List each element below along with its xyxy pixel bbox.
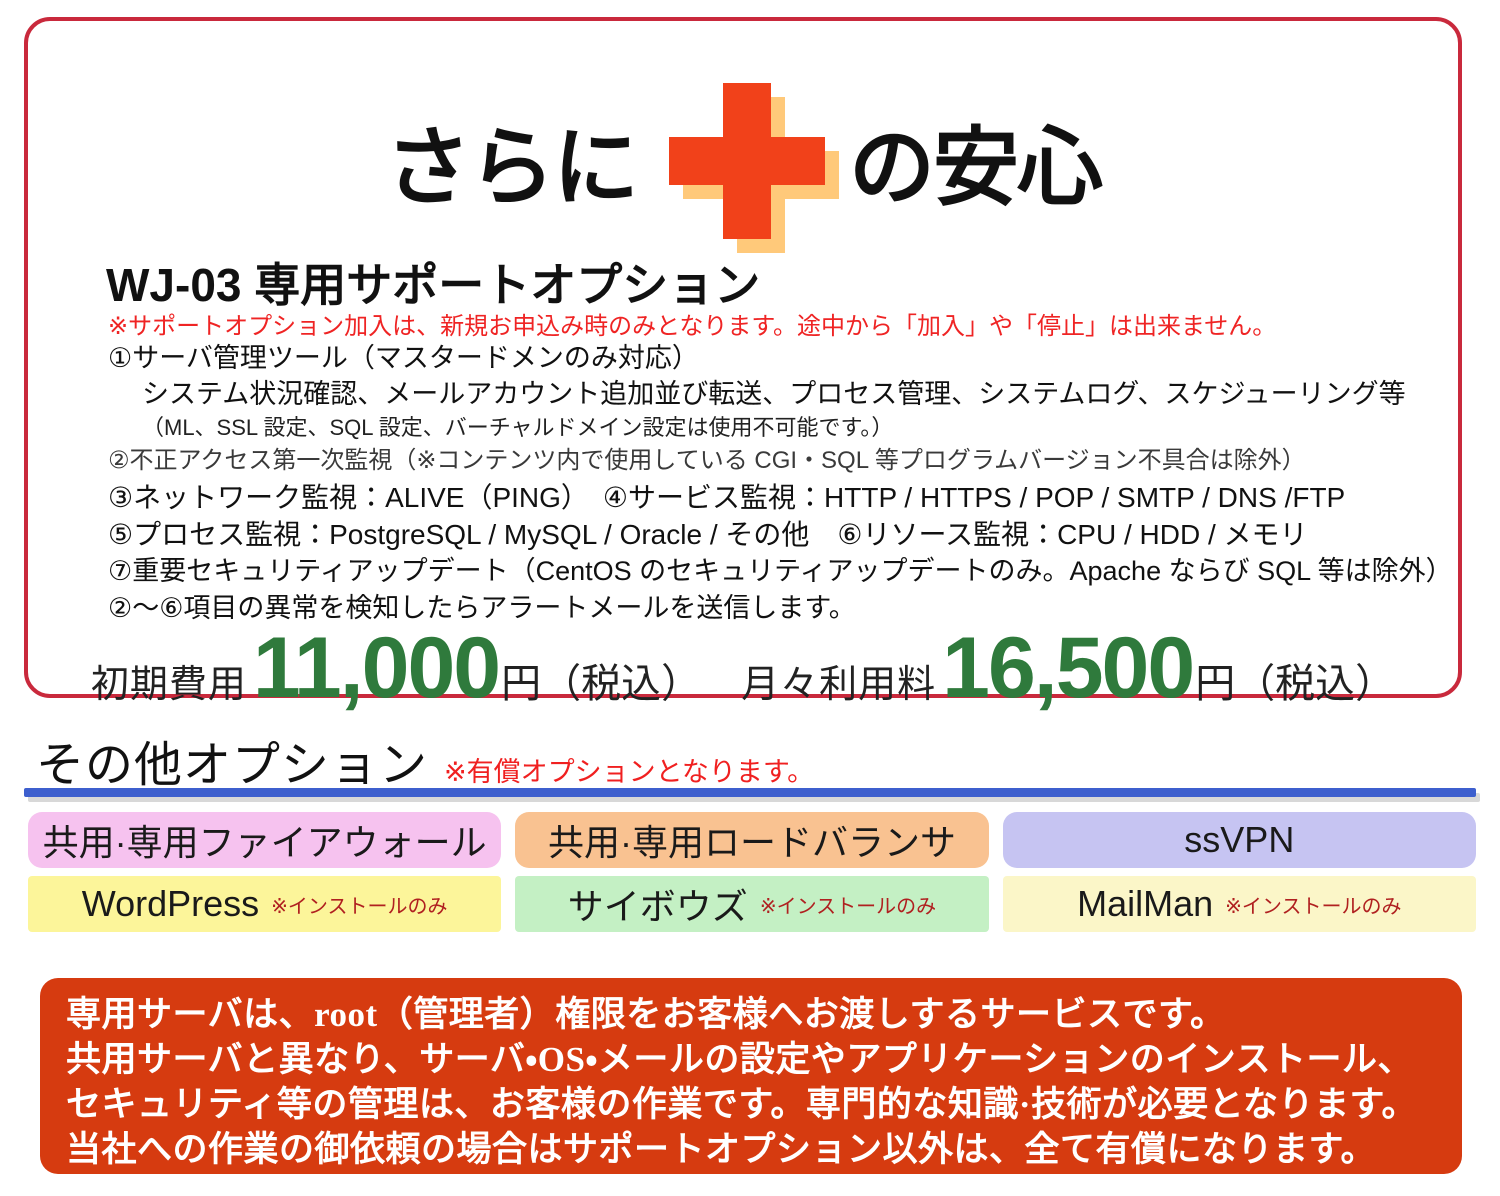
- feature-item-3-4: ③ネットワーク監視：ALIVE（PING） ④サービス監視：HTTP / HTT…: [108, 479, 1448, 516]
- monthly-fee-value: 16,500: [942, 620, 1193, 716]
- feature-item-1: ①サーバ管理ツール（マスタードメンのみ対応）: [108, 341, 1448, 376]
- option-tag-install-note: ※インストールのみ: [760, 890, 936, 919]
- option-tag-firewall[interactable]: 共用·専用ファイアウォール: [28, 812, 501, 868]
- page-root: さらに の安心 WJ-03 専用サポートオプション ※サポートオプション加入は、…: [0, 0, 1500, 1196]
- option-tag-wordpress[interactable]: WordPress ※インストールのみ: [28, 876, 501, 932]
- other-options-title: その他オプション: [36, 739, 428, 792]
- disclaimer-line-1: 専用サーバは、root（管理者）権限をお客様へお渡しするサービスです。: [66, 992, 1436, 1037]
- monthly-fee-unit: 円（税込）: [1195, 662, 1395, 706]
- feature-item-2: ②不正アクセス第一次監視（※コンテンツ内で使用している CGI・SQL 等プログ…: [108, 443, 1448, 479]
- option-tag-loadbalancer[interactable]: 共用·専用ロードバランサ: [515, 812, 988, 868]
- support-option-card: さらに の安心 WJ-03 専用サポートオプション ※サポートオプション加入は、…: [24, 17, 1462, 698]
- option-tag-label: WordPress: [82, 883, 259, 925]
- option-tag-ssvpn[interactable]: ssVPN: [1003, 812, 1476, 868]
- headline: さらに の安心: [28, 83, 1458, 253]
- option-tag-label: 共用·専用ファイアウォール: [43, 814, 487, 866]
- headline-right-text: の安心: [849, 120, 1101, 216]
- option-tag-row-2: WordPress ※インストールのみ サイボウズ ※インストールのみ Mail…: [28, 876, 1476, 932]
- signup-notice: ※サポートオプション加入は、新規お申込み時のみとなります。途中から「加入」や「停…: [108, 306, 1276, 341]
- option-tag-label: サイボウズ: [568, 878, 748, 930]
- feature-item-7: ⑦重要セキュリティアップデート（CentOS のセキュリティアップデートのみ。A…: [108, 553, 1448, 590]
- option-tag-grid: 共用·専用ファイアウォール 共用·専用ロードバランサ ssVPN WordPre…: [28, 812, 1476, 940]
- initial-fee-unit: 円（税込）: [501, 662, 701, 706]
- headline-left-text: さらに: [385, 120, 637, 216]
- option-tag-label: ssVPN: [1184, 819, 1294, 861]
- plus-sign-icon: [669, 83, 839, 253]
- option-tag-cybozu[interactable]: サイボウズ ※インストールのみ: [515, 876, 988, 932]
- feature-list: ①サーバ管理ツール（マスタードメンのみ対応） システム状況確認、メールアカウント…: [108, 341, 1448, 627]
- feature-item-5-6: ⑤プロセス監視：PostgreSQL / MySQL / Oracle / その…: [108, 516, 1448, 553]
- disclaimer-line-3: セキュリティ等の管理は、お客様の作業です。専門的な知識·技術が必要となります。: [66, 1082, 1436, 1127]
- option-tag-mailman[interactable]: MailMan ※インストールのみ: [1003, 876, 1476, 932]
- option-tag-label: MailMan: [1077, 883, 1213, 925]
- initial-fee-label: 初期費用: [91, 664, 247, 706]
- disclaimer-line-2: 共用サーバと異なり、サーバ・OS・メールの設定やアプリケーションのインストール、: [66, 1037, 1436, 1082]
- option-tag-row-1: 共用·専用ファイアウォール 共用·専用ロードバランサ ssVPN: [28, 812, 1476, 868]
- other-options-heading: その他オプション※有償オプションとなります。: [36, 725, 814, 795]
- initial-fee-value: 11,000: [253, 620, 499, 716]
- dedicated-server-disclaimer: 専用サーバは、root（管理者）権限をお客様へお渡しするサービスです。 共用サー…: [40, 978, 1462, 1174]
- option-tag-install-note: ※インストールのみ: [271, 890, 447, 919]
- feature-item-1-detail: システム状況確認、メールアカウント追加並び転送、プロセス管理、システムログ、スケ…: [108, 376, 1448, 412]
- monthly-fee-label: 月々利用料: [741, 664, 936, 706]
- pricing-row: 初期費用11,000円（税込）月々利用料16,500円（税込）: [28, 619, 1458, 718]
- other-options-note: ※有償オプションとなります。: [444, 757, 814, 787]
- feature-item-1-note: （ML、SSL 設定、SQL 設定、バーチャルドメイン設定は使用不可能です。）: [108, 412, 1448, 443]
- plus-sign-main: [669, 83, 825, 239]
- section-divider: [24, 788, 1476, 797]
- disclaimer-line-4: 当社への作業の御依頼の場合はサポートオプション以外は、全て有償になります。: [66, 1127, 1436, 1172]
- option-tag-label: 共用·専用ロードバランサ: [548, 814, 956, 866]
- option-tag-install-note: ※インストールのみ: [1225, 890, 1401, 919]
